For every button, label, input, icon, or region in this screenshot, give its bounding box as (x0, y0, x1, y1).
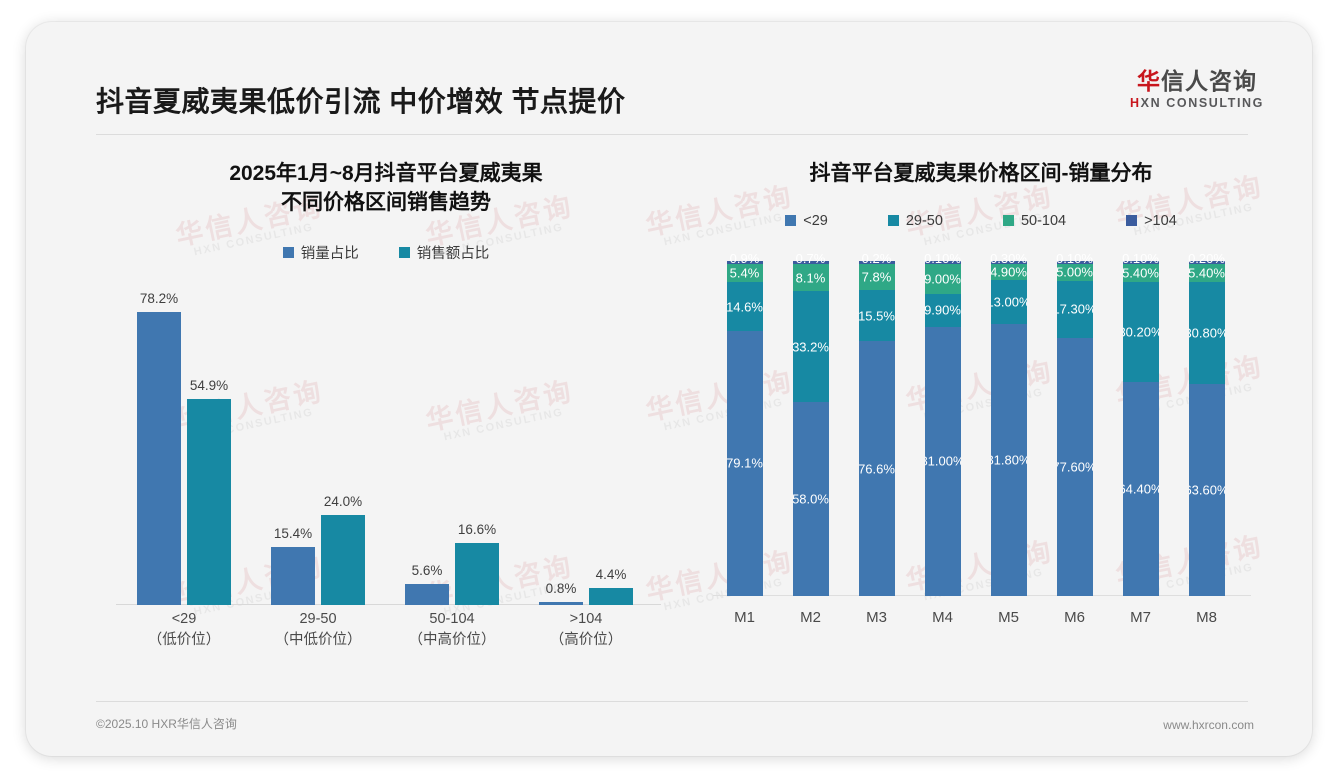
stack-segment[interactable]: 81.80% (991, 324, 1027, 596)
legend-label: 50-104 (1021, 213, 1066, 229)
right-chart-legend-item[interactable]: 50-104 (1003, 213, 1066, 229)
legend-label: 销售额占比 (417, 242, 490, 263)
month-label: M5 (979, 609, 1039, 626)
chart-panel-left: 2025年1月~8月抖音平台夏威夷果 不同价格区间销售趋势 销量占比销售额占比 … (86, 140, 686, 700)
bar[interactable] (271, 547, 315, 605)
stack-segment-label: 63.60% (1189, 483, 1225, 498)
category-label-main: >104 (570, 611, 603, 627)
legend-swatch-icon (1126, 215, 1137, 226)
footer-copyright: ©2025.10 HXR华信人咨询 (96, 715, 237, 732)
stack-segment[interactable]: 64.40% (1123, 382, 1159, 596)
stack-segment-label: 15.5% (859, 308, 895, 323)
left-chart-legend-item[interactable]: 销量占比 (283, 242, 359, 263)
stack-segment-label: 76.6% (859, 461, 895, 476)
stack-segment[interactable]: 30.80% (1189, 282, 1225, 384)
slide-card: 抖音夏威夷果低价引流 中价增效 节点提价 华信人咨询 HXN CONSULTIN… (26, 22, 1312, 756)
month-label: M8 (1177, 609, 1237, 626)
stack-segment[interactable]: 9.90% (925, 294, 961, 327)
company-logo: 华信人咨询 HXN CONSULTING (1130, 70, 1264, 110)
bar-column[interactable]: 78.2% (137, 312, 181, 605)
bar-column[interactable]: 16.6% (455, 543, 499, 605)
stacked-bar[interactable]: 0.7%8.1%33.2%58.0% (793, 261, 829, 596)
category-label-sub: （低价位） (114, 630, 254, 651)
page-title: 抖音夏威夷果低价引流 中价增效 节点提价 (96, 80, 626, 120)
category-label: <29（低价位） (114, 609, 254, 651)
left-chart-title-line1: 2025年1月~8月抖音平台夏威夷果 (229, 162, 542, 185)
bar-value-label: 5.6% (412, 563, 443, 578)
left-chart-legend-item[interactable]: 销售额占比 (399, 242, 490, 263)
stack-segment-label: 81.80% (991, 452, 1027, 467)
legend-swatch-icon (888, 215, 899, 226)
stack-segment[interactable]: 79.1% (727, 331, 763, 596)
stack-segment-label: 5.00% (1057, 265, 1093, 280)
stack-segment-label: 7.8% (862, 269, 892, 284)
left-chart-plot: 78.2%54.9%<29（低价位）15.4%24.0%29-50（中低价位）5… (106, 285, 666, 665)
bar-column[interactable]: 54.9% (187, 399, 231, 605)
bar[interactable] (405, 584, 449, 605)
bar[interactable] (321, 515, 365, 605)
legend-label: 29-50 (906, 213, 943, 229)
bar-group: 0.8%4.4% (526, 305, 646, 605)
stack-segment[interactable]: 76.6% (859, 341, 895, 596)
stack-segment[interactable]: 13.00% (991, 280, 1027, 323)
category-label-main: 29-50 (299, 611, 336, 627)
bar-value-label: 78.2% (140, 291, 178, 306)
stack-segment-label: 81.00% (925, 454, 961, 469)
category-label-sub: （中高价位） (382, 630, 522, 651)
legend-swatch-icon (399, 247, 410, 258)
left-chart-legend: 销量占比销售额占比 (86, 242, 686, 263)
bar-value-label: 16.6% (458, 522, 496, 537)
bar-column[interactable]: 0.8% (539, 602, 583, 605)
bar-group: 78.2%54.9% (124, 305, 244, 605)
stack-segment[interactable]: 9.00% (925, 264, 961, 294)
stack-segment[interactable]: 15.5% (859, 290, 895, 342)
stack-segment[interactable]: 7.8% (859, 264, 895, 290)
right-chart-plot: 0.9%5.4%14.6%79.1%M10.7%8.1%33.2%58.0%M2… (709, 247, 1254, 632)
category-label: >104（高价位） (516, 609, 656, 651)
footer-divider (96, 701, 1248, 702)
stack-segment[interactable]: 17.30% (1057, 281, 1093, 339)
right-chart-legend-item[interactable]: 29-50 (888, 213, 943, 229)
stack-segment[interactable]: 5.40% (1189, 264, 1225, 282)
header-divider (96, 134, 1248, 135)
stack-segment-label: 8.1% (796, 270, 826, 285)
bar-group: 5.6%16.6% (392, 305, 512, 605)
stack-segment-label: 4.90% (991, 265, 1027, 280)
stack-segment[interactable]: 33.2% (793, 291, 829, 402)
stack-segment[interactable]: 63.60% (1189, 384, 1225, 596)
bar-column[interactable]: 4.4% (589, 588, 633, 605)
bar-value-label: 0.8% (546, 581, 577, 596)
stack-segment[interactable]: 77.60% (1057, 338, 1093, 596)
bar-column[interactable]: 5.6% (405, 584, 449, 605)
stack-segment-label: 5.40% (1189, 265, 1225, 280)
right-chart-legend: <2929-5050-104>104 (696, 213, 1266, 229)
stack-segment-label: 30.20% (1123, 324, 1159, 339)
stack-segment[interactable]: 4.90% (991, 264, 1027, 280)
right-chart-legend-item[interactable]: >104 (1126, 213, 1177, 229)
legend-label: >104 (1144, 213, 1177, 229)
stack-segment-label: 9.00% (925, 271, 961, 286)
bar[interactable] (539, 602, 583, 605)
stack-segment-label: 30.80% (1189, 326, 1225, 341)
stack-segment[interactable]: 30.20% (1123, 282, 1159, 382)
bar[interactable] (187, 399, 231, 605)
bar-column[interactable]: 24.0% (321, 515, 365, 605)
month-label: M7 (1111, 609, 1171, 626)
stack-segment[interactable]: 5.40% (1123, 264, 1159, 282)
right-chart-legend-item[interactable]: <29 (785, 213, 828, 229)
stacked-bar[interactable]: 0.20%5.40%30.80%63.60% (1189, 261, 1225, 596)
stacked-bar[interactable]: 0.10%9.00%9.90%81.00% (925, 261, 961, 596)
logo-english: HXN CONSULTING (1130, 97, 1264, 110)
month-label: M3 (847, 609, 907, 626)
stack-segment[interactable]: 14.6% (727, 282, 763, 331)
category-label-sub: （中低价位） (248, 630, 388, 651)
category-label-main: 50-104 (429, 611, 474, 627)
legend-swatch-icon (785, 215, 796, 226)
right-chart-title-line1: 抖音平台夏威夷果价格区间-销量分布 (810, 162, 1153, 185)
stacked-bar[interactable]: 0.2%7.8%15.5%76.6% (859, 261, 895, 596)
legend-swatch-icon (283, 247, 294, 258)
stacked-bar[interactable]: 0.10%5.40%30.20%64.40% (1123, 261, 1159, 596)
stacked-bar[interactable]: 0.9%5.4%14.6%79.1% (727, 261, 763, 596)
month-label: M6 (1045, 609, 1105, 626)
bar-value-label: 4.4% (596, 567, 627, 582)
bar[interactable] (137, 312, 181, 605)
right-chart-title: 抖音平台夏威夷果价格区间-销量分布 (696, 140, 1266, 189)
stack-segment-label: 58.0% (793, 492, 829, 507)
left-chart-title-line2: 不同价格区间销售趋势 (86, 189, 686, 218)
bar-value-label: 15.4% (274, 526, 312, 541)
legend-label: <29 (803, 213, 828, 229)
legend-swatch-icon (1003, 215, 1014, 226)
stack-segment-label: 9.90% (925, 303, 961, 318)
stacked-bar[interactable]: 0.10%5.00%17.30%77.60% (1057, 261, 1093, 596)
bar-value-label: 24.0% (324, 494, 362, 509)
category-label: 29-50（中低价位） (248, 609, 388, 651)
bar-column[interactable]: 15.4% (271, 547, 315, 605)
stack-segment-label: 64.40% (1123, 482, 1159, 497)
footer-website[interactable]: www.hxrcon.com (1163, 718, 1254, 732)
logo-chinese-rest: 信人咨询 (1161, 68, 1257, 94)
category-label: 50-104（中高价位） (382, 609, 522, 651)
stack-segment-label: 13.00% (991, 294, 1027, 309)
stack-segment[interactable]: 5.4% (727, 264, 763, 282)
category-label-sub: （高价位） (516, 630, 656, 651)
stack-segment-label: 33.2% (793, 339, 829, 354)
stacked-bar[interactable]: 0.30%4.90%13.00%81.80% (991, 261, 1027, 596)
slide-page: 抖音夏威夷果低价引流 中价增效 节点提价 华信人咨询 HXN CONSULTIN… (0, 0, 1340, 780)
month-label: M2 (781, 609, 841, 626)
slide-header: 抖音夏威夷果低价引流 中价增效 节点提价 华信人咨询 HXN CONSULTIN… (26, 22, 1312, 118)
category-label-main: <29 (172, 611, 197, 627)
stack-segment-label: 5.4% (730, 266, 760, 281)
stack-segment-label: 77.60% (1057, 460, 1093, 475)
bar[interactable] (589, 588, 633, 605)
logo-english-red: H (1130, 96, 1141, 110)
stack-segment[interactable]: 58.0% (793, 402, 829, 596)
legend-label: 销量占比 (301, 242, 359, 263)
bar-value-label: 54.9% (190, 378, 228, 393)
month-label: M1 (715, 609, 775, 626)
logo-chinese-red: 华 (1137, 68, 1161, 94)
bar-group: 15.4%24.0% (258, 305, 378, 605)
stack-segment[interactable]: 5.00% (1057, 264, 1093, 281)
left-chart-title: 2025年1月~8月抖音平台夏威夷果 不同价格区间销售趋势 (86, 140, 686, 218)
logo-english-rest: XN CONSULTING (1141, 96, 1264, 110)
stack-segment-label: 14.6% (727, 299, 763, 314)
logo-chinese: 华信人咨询 (1130, 70, 1264, 93)
stack-segment-label: 79.1% (727, 456, 763, 471)
chart-panel-right: 抖音平台夏威夷果价格区间-销量分布 <2929-5050-104>104 0.9… (696, 140, 1266, 700)
stack-segment[interactable]: 8.1% (793, 264, 829, 291)
stack-segment[interactable]: 81.00% (925, 327, 961, 596)
stack-segment-label: 5.40% (1123, 265, 1159, 280)
month-label: M4 (913, 609, 973, 626)
bar[interactable] (455, 543, 499, 605)
stack-segment-label: 17.30% (1057, 302, 1093, 317)
